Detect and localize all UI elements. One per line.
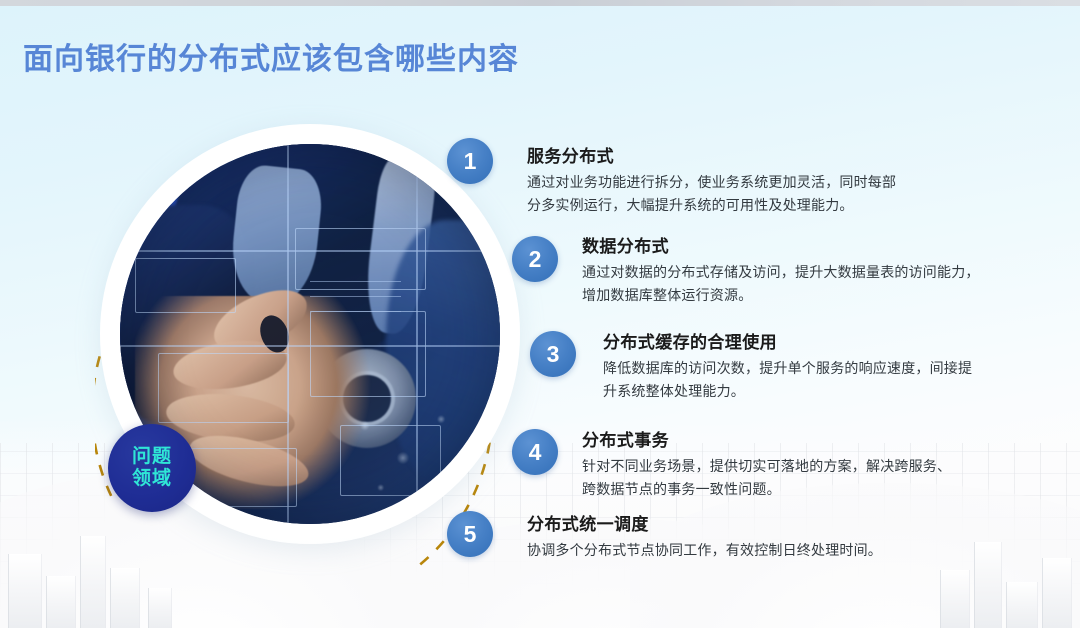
landscape-block: [940, 570, 970, 628]
item-body-line: 通过对业务功能进行拆分，使业务系统更加灵活，同时每部: [527, 171, 997, 194]
item-body-line: 降低数据库的访问次数，提升单个服务的响应速度，间接提: [603, 357, 1073, 380]
item-heading: 分布式统一调度: [527, 514, 997, 535]
landscape-block: [148, 588, 172, 628]
landscape-block: [110, 568, 140, 628]
item-text-1: 服务分布式 通过对业务功能进行拆分，使业务系统更加灵活，同时每部 分多实例运行，…: [527, 146, 997, 217]
item-body-line: 通过对数据的分布式存储及访问，提升大数据量表的访问能力，: [582, 261, 1052, 284]
landscape-block: [1006, 582, 1038, 628]
item-heading: 服务分布式: [527, 146, 997, 167]
item-number-badge-3[interactable]: 3: [530, 331, 576, 377]
item-text-3: 分布式缓存的合理使用 降低数据库的访问次数，提升单个服务的响应速度，间接提 升系…: [603, 332, 1073, 403]
landscape-block: [46, 576, 76, 628]
page-title: 面向银行的分布式应该包含哪些内容: [23, 34, 519, 78]
landscape-block: [1042, 558, 1072, 628]
item-text-2: 数据分布式 通过对数据的分布式存储及访问，提升大数据量表的访问能力， 增加数据库…: [582, 236, 1052, 307]
landscape-block: [80, 536, 106, 628]
item-number-badge-1[interactable]: 1: [447, 138, 493, 184]
item-text-5: 分布式统一调度 协调多个分布式节点协同工作，有效控制日终处理时间。: [527, 514, 997, 562]
item-body-line: 增加数据库整体运行资源。: [582, 284, 1052, 307]
item-body-line: 跨数据节点的事务一致性问题。: [582, 478, 1052, 501]
item-text-4: 分布式事务 针对不同业务场景，提供切实可落地的方案，解决跨服务、 跨数据节点的事…: [582, 430, 1052, 501]
problem-domain-line2: 领域: [132, 468, 172, 490]
item-heading: 数据分布式: [582, 236, 1052, 257]
item-body-line: 协调多个分布式节点协同工作，有效控制日终处理时间。: [527, 539, 997, 562]
item-body-line: 针对不同业务场景，提供切实可落地的方案，解决跨服务、: [582, 455, 1052, 478]
slide-canvas: 面向银行的分布式应该包含哪些内容: [0, 6, 1080, 628]
item-heading: 分布式事务: [582, 430, 1052, 451]
item-body-line: 分多实例运行，大幅提升系统的可用性及处理能力。: [527, 194, 997, 217]
item-number-badge-2[interactable]: 2: [512, 236, 558, 282]
problem-domain-badge[interactable]: 问题 领域: [108, 424, 196, 512]
item-number-badge-5[interactable]: 5: [447, 511, 493, 557]
item-body-line: 升系统整体处理能力。: [603, 380, 1073, 403]
landscape-block: [8, 554, 42, 628]
problem-domain-line1: 问题: [132, 446, 172, 468]
item-heading: 分布式缓存的合理使用: [603, 332, 1073, 353]
item-number-badge-4[interactable]: 4: [512, 429, 558, 475]
